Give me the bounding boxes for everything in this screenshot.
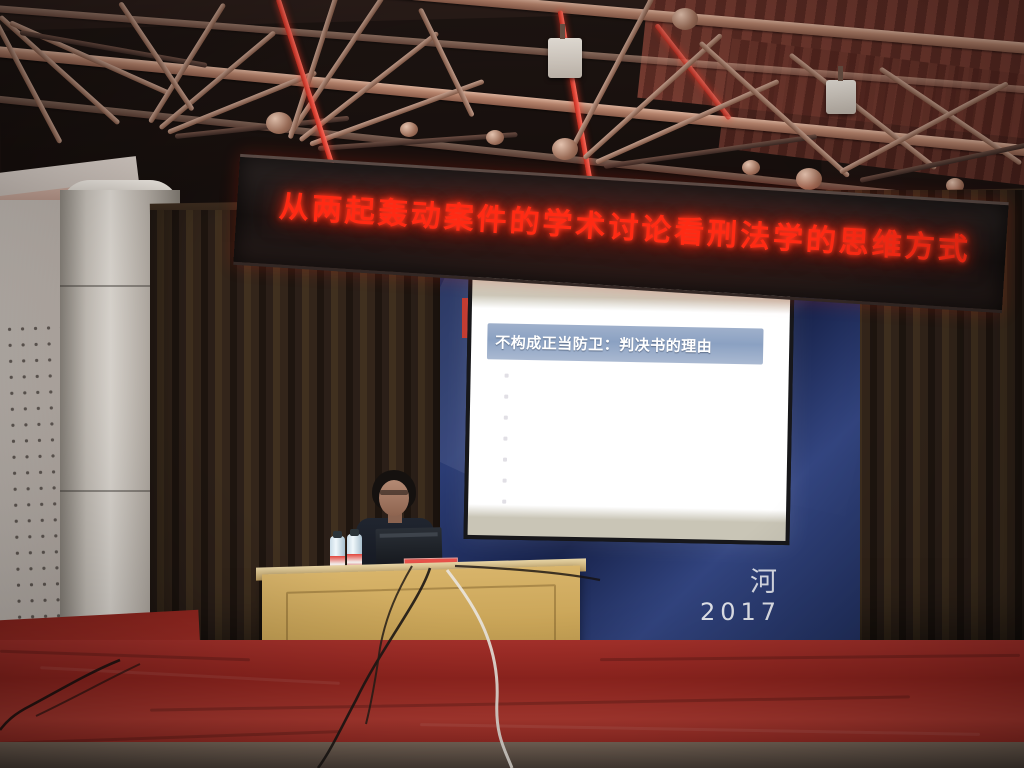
slide-title-bar: 不构成正当防卫：判决书的理由	[487, 323, 764, 364]
slide-bullet-marker	[503, 437, 507, 441]
slide-bullet-marker	[503, 479, 507, 483]
ceiling-speaker-box	[826, 80, 856, 114]
photo-scene: 国 河 2017 不构成正当防卫：判决书的理由 从两起轰动案件的学术讨论看刑法学…	[0, 0, 1024, 768]
truss-node	[266, 112, 292, 134]
slide-bullet-marker	[504, 416, 508, 420]
slide-title-text: 不构成正当防卫：判决书的理由	[487, 331, 712, 356]
truss-node	[552, 138, 578, 160]
backdrop-title-text: 河	[750, 560, 783, 599]
slide-bullet-marker	[504, 395, 508, 399]
ceiling-speaker-box	[548, 38, 582, 78]
speaker-glasses	[380, 490, 408, 495]
truss-node	[672, 8, 698, 30]
truss-node	[796, 168, 822, 190]
projector-screen: 不构成正当防卫：判决书的理由	[463, 273, 794, 545]
slide-bullet-marker	[503, 458, 507, 462]
slide-bullet-list	[502, 374, 509, 521]
truss-node	[742, 160, 760, 175]
truss-node	[486, 130, 504, 145]
truss-node	[400, 122, 418, 137]
projector-screen-surface: 不构成正当防卫：判决书的理由	[468, 277, 791, 541]
speaker-face	[379, 480, 409, 516]
slide-bullet-marker	[502, 500, 506, 504]
floor-front-edge	[0, 742, 1024, 768]
led-banner-text: 从两起轰动案件的学术讨论看刑法学的思维方式	[278, 182, 979, 270]
slide-bullet-marker	[505, 374, 509, 378]
backdrop-year-text: 2017	[700, 598, 781, 626]
